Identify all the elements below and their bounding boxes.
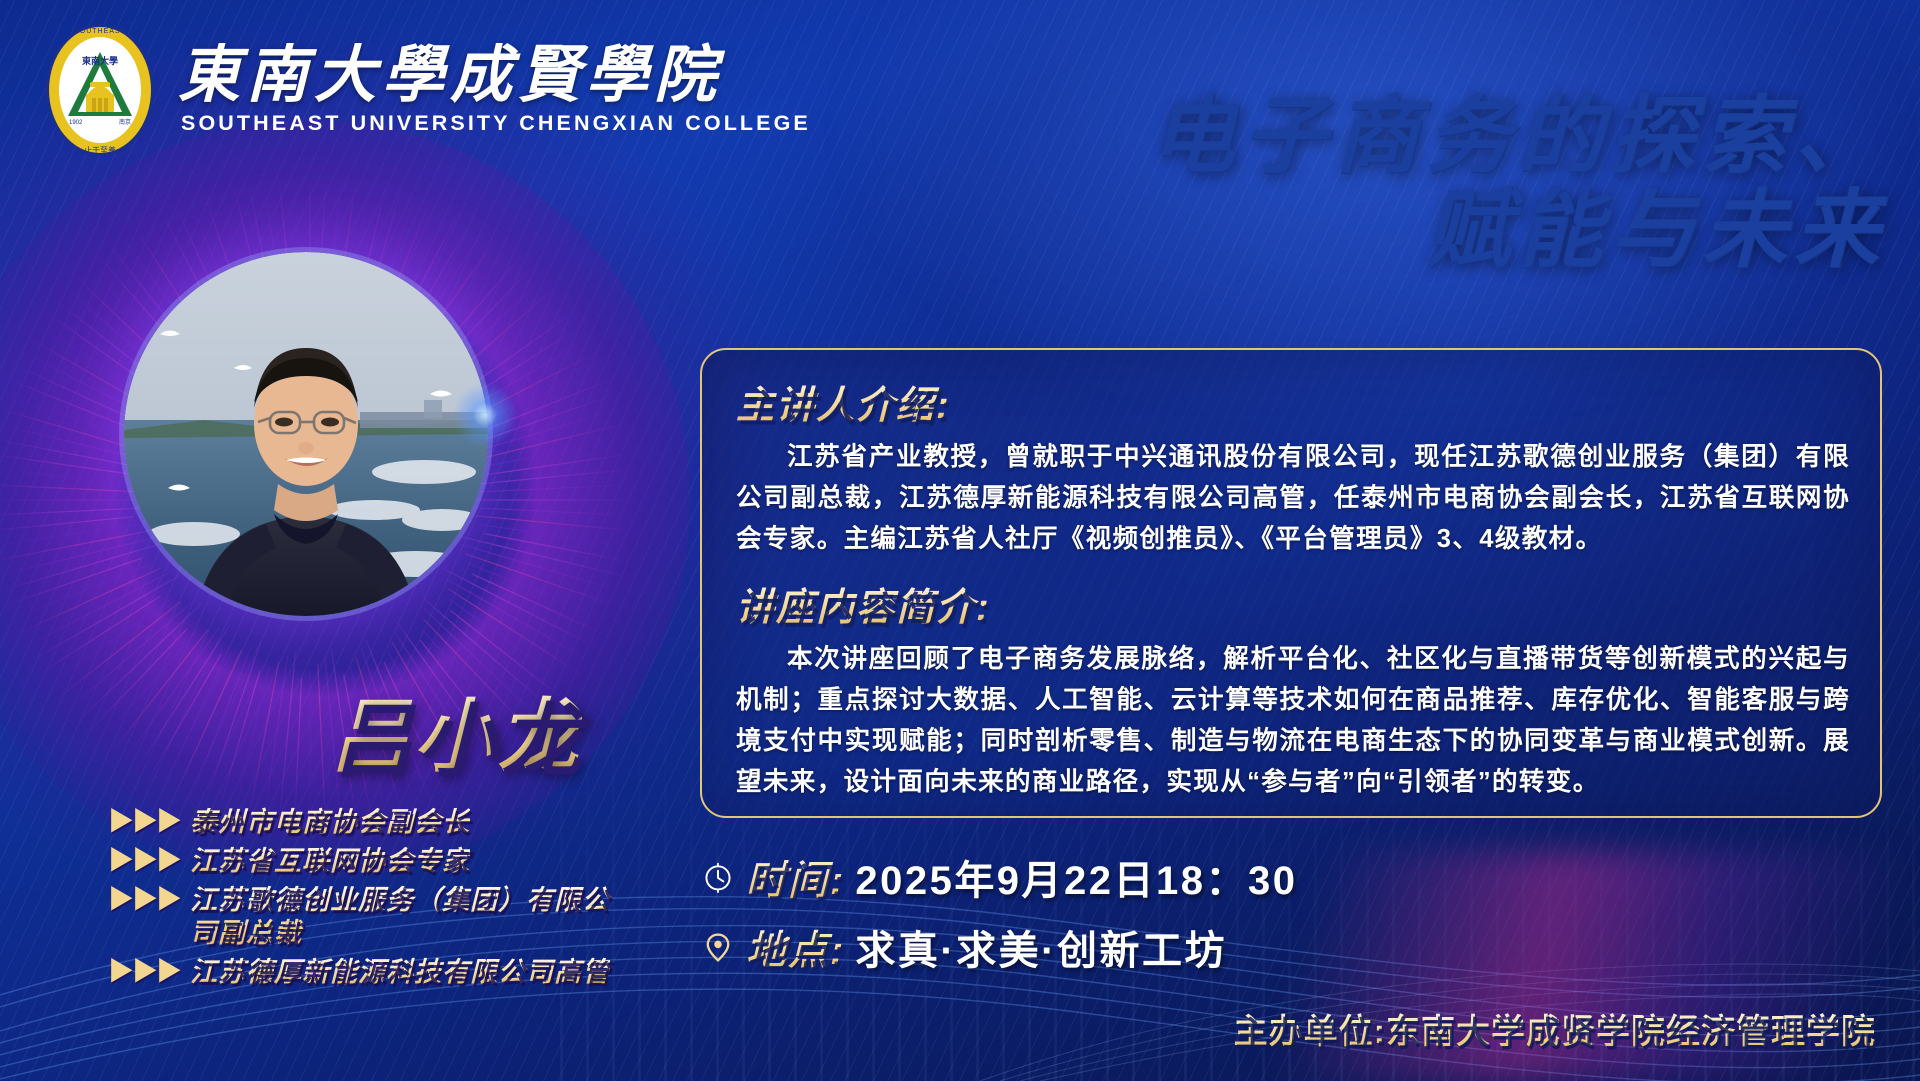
lecture-poster: 東南大學 SOUTHEAST 止于至善 1902 南京 東南大學成賢學院 SOU… (0, 0, 1920, 1081)
brand-logo: 東南大學 SOUTHEAST 止于至善 1902 南京 東南大學成賢學院 SOU… (40, 20, 811, 160)
clock-icon (700, 859, 736, 895)
credential-label: 泰州市电商协会副会长 (190, 806, 470, 839)
event-location-label: 地点: (746, 918, 845, 976)
location-pin-icon (700, 929, 736, 965)
speaker-portrait-image (124, 252, 488, 616)
credential-label: 江苏德厚新能源科技有限公司高管 (190, 956, 610, 989)
speaker-credentials-list: ▶▶▶ 泰州市电商协会副会长 ▶▶▶ 江苏省互联网协会专家 ▶▶▶ 江苏歌德创业… (108, 806, 628, 995)
credential-item: ▶▶▶ 江苏德厚新能源科技有限公司高管 (108, 956, 628, 989)
event-time-label: 时间: (746, 848, 845, 906)
triple-arrow-icon: ▶▶▶ (108, 884, 180, 915)
university-seal-icon: 東南大學 SOUTHEAST 止于至善 1902 南京 (40, 20, 160, 160)
event-location-row: 地点: 求真·求美·创新工坊 (700, 918, 1298, 976)
event-location-value: 求真·求美·创新工坊 (855, 918, 1227, 976)
brand-name-cn: 東南大學成賢學院 (178, 44, 811, 109)
speaker-intro-body: 江苏省产业教授，曾就职于中兴通讯股份有限公司，现任江苏歌德创业服务（集团）有限公… (736, 437, 1850, 560)
lecture-summary-heading: 讲座内容简介: (736, 576, 1850, 631)
speaker-intro-heading: 主讲人介绍: (736, 374, 1850, 429)
speaker-name: 吕小龙 (330, 672, 582, 788)
title-line-2: 赋能与未来 (1146, 176, 1882, 276)
triple-arrow-icon: ▶▶▶ (108, 806, 180, 837)
event-time-row: 时间: 2025年9月22日18：30 (700, 848, 1298, 906)
credential-item: ▶▶▶ 江苏歌德创业服务（集团）有限公司副总裁 (108, 884, 628, 950)
brand-name-en: SOUTHEAST UNIVERSITY CHENGXIAN COLLEGE (178, 111, 811, 136)
title-line-1: 电子商务的探索、 (1146, 82, 1882, 182)
svg-text:止于至善: 止于至善 (84, 145, 116, 155)
event-time-value: 2025年9月22日18：30 (855, 848, 1297, 906)
speaker-photo (124, 252, 488, 616)
triple-arrow-icon: ▶▶▶ (108, 845, 180, 876)
event-meta: 时间: 2025年9月22日18：30 地点: 求真·求美·创新工坊 (700, 848, 1298, 988)
poster-title: 电子商务的探索、 赋能与未来 (1146, 82, 1882, 277)
organizer-text: 主办单位:东南大学成贤学院经济管理学院 (1234, 1004, 1876, 1053)
svg-text:SOUTHEAST: SOUTHEAST (74, 28, 126, 35)
lecture-summary-body: 本次讲座回顾了电子商务发展脉络，解析平台化、社区化与直播带货等创新模式的兴起与机… (736, 639, 1850, 803)
content-panel: 主讲人介绍: 江苏省产业教授，曾就职于中兴通讯股份有限公司，现任江苏歌德创业服务… (700, 348, 1882, 818)
credential-label: 江苏歌德创业服务（集团）有限公司副总裁 (190, 884, 628, 950)
svg-text:1902: 1902 (69, 120, 83, 126)
credential-item: ▶▶▶ 江苏省互联网协会专家 (108, 845, 628, 878)
credential-label: 江苏省互联网协会专家 (190, 845, 470, 878)
svg-text:東南大學: 東南大學 (82, 55, 118, 66)
credential-item: ▶▶▶ 泰州市电商协会副会长 (108, 806, 628, 839)
svg-text:南京: 南京 (119, 118, 131, 126)
triple-arrow-icon: ▶▶▶ (108, 956, 180, 987)
